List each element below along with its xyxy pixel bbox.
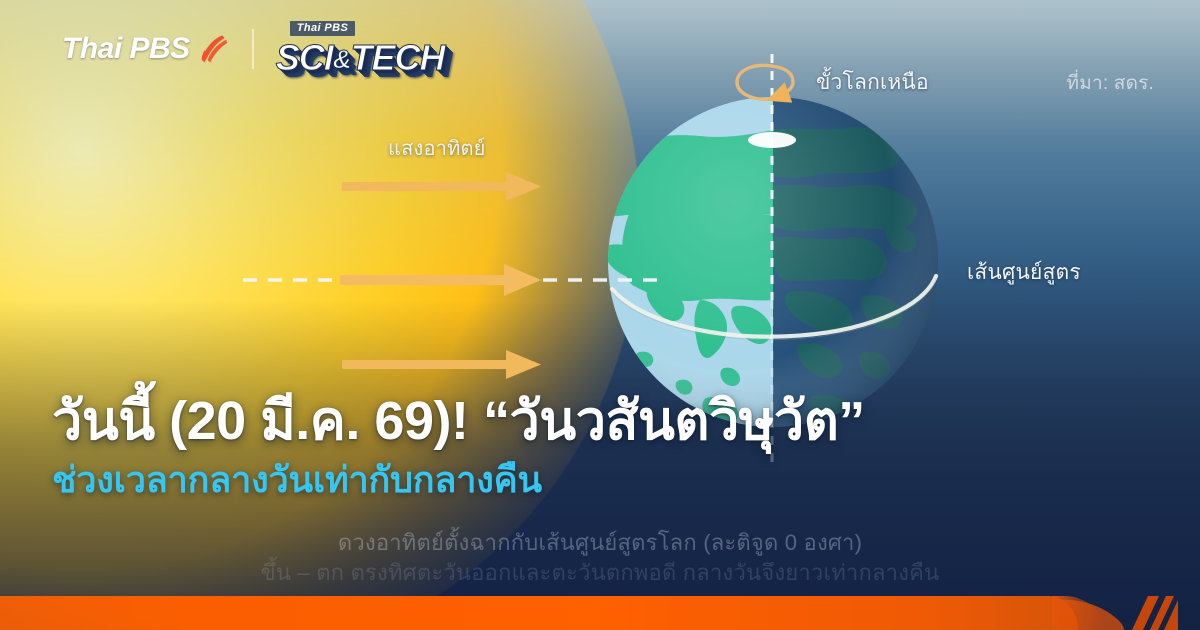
scitech-sci: SCI: [276, 37, 333, 78]
logo-divider: [252, 29, 254, 69]
sunlight-arrow-icon: [340, 172, 541, 379]
scitech-amp: &: [333, 44, 351, 74]
label-north-pole: ขั้วโลกเหนือ: [816, 66, 929, 99]
scitech-tech: TECH: [351, 37, 445, 78]
headline-block: วันนี้ (20 มี.ค. 69)! “วันวสันตวิษุวัต” …: [52, 388, 865, 502]
scitech-chip-label: Thai PBS: [290, 21, 356, 36]
thaipbs-logo[interactable]: Thai PBS: [62, 32, 228, 66]
infographic-card: แสงอาทิตย์ ขั้วโลกเหนือ เส้นศูนย์สูตร Th…: [0, 0, 1200, 630]
sunlight-arrow-2: [340, 264, 541, 296]
sunlight-arrow-3: [342, 350, 541, 379]
equinox-diagram: [0, 0, 1200, 630]
label-equator: เส้นศูนย์สูตร: [967, 256, 1081, 289]
page-subtitle: ช่วงเวลากลางวันเท่ากับกลางคืน: [52, 458, 865, 502]
sunlight-arrow-1: [342, 172, 541, 201]
scitech-logo[interactable]: Thai PBS SCI&TECH: [276, 19, 445, 79]
swoosh-icon: [194, 32, 228, 66]
label-sunlight: แสงอาทิตย์: [388, 132, 486, 164]
rotation-arrow-icon: [737, 65, 793, 99]
source-credit: ที่มา: สดร.: [1067, 68, 1155, 98]
scitech-wordmark: SCI&TECH: [276, 37, 445, 79]
thaipbs-wordmark: Thai PBS: [62, 32, 190, 66]
page-title: วันนี้ (20 มี.ค. 69)! “วันวสันตวิษุวัต”: [52, 388, 865, 454]
north-pole-marker: [748, 132, 796, 148]
footer-bar: [0, 596, 1078, 630]
thaipbs-swoosh-mark-icon: [1058, 596, 1178, 630]
brand-logo-row: Thai PBS Thai PBS SCI&TECH: [62, 20, 445, 78]
